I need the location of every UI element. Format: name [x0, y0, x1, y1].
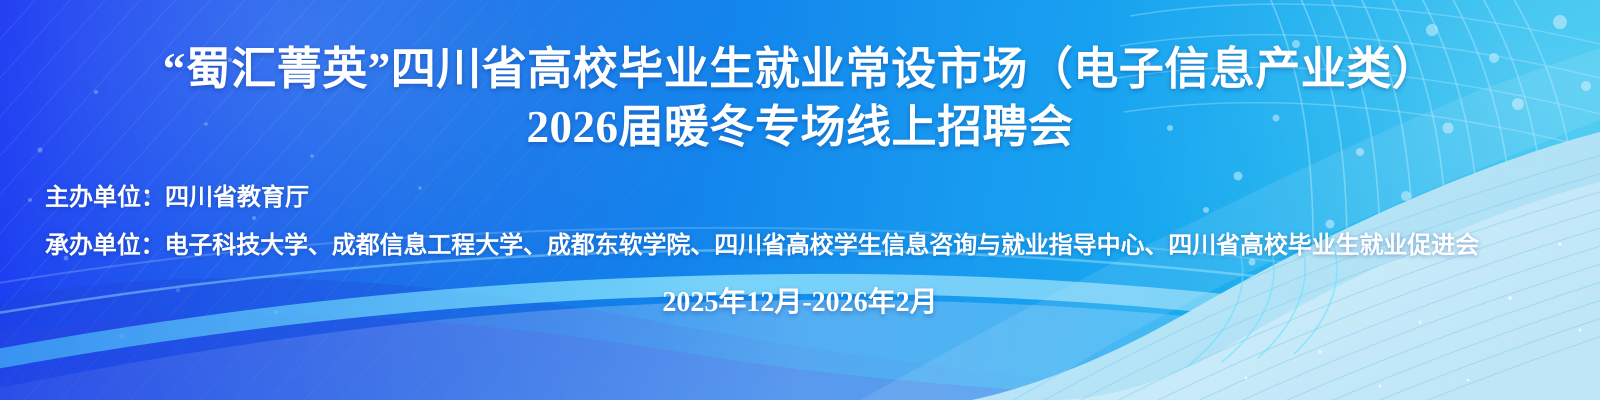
recruitment-banner: “蜀汇菁英”四川省高校毕业生就业常设市场（电子信息产业类） 2026届暖冬专场线…	[0, 0, 1600, 400]
date-range-line: 2025年12月-2026年2月	[0, 286, 1600, 320]
banner-content: “蜀汇菁英”四川省高校毕业生就业常设市场（电子信息产业类） 2026届暖冬专场线…	[0, 0, 1600, 400]
banner-title: “蜀汇菁英”四川省高校毕业生就业常设市场（电子信息产业类） 2026届暖冬专场线…	[0, 40, 1600, 156]
title-line-2: 2026届暖冬专场线上招聘会	[0, 98, 1600, 156]
title-line-1: “蜀汇菁英”四川省高校毕业生就业常设市场（电子信息产业类）	[0, 40, 1600, 98]
co-organizer-line: 承办单位：电子科技大学、成都信息工程大学、成都东软学院、四川省高校学生信息咨询与…	[45, 231, 1592, 261]
organizer-line: 主办单位：四川省教育厅	[45, 183, 309, 213]
